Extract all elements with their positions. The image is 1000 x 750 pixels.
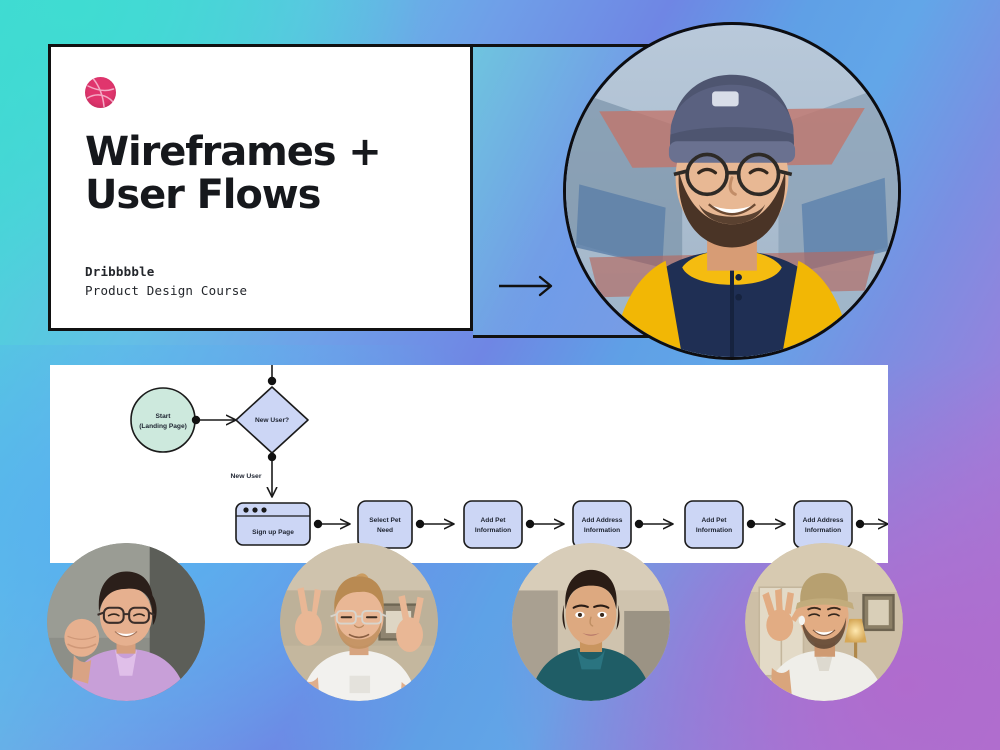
slide-content: Wireframes + User Flows Dribbbble Produc… [51,47,470,328]
slide-brand: Dribbbble [85,264,247,279]
shared-slide[interactable]: Wireframes + User Flows Dribbbble Produc… [48,44,473,331]
participant-1-avatar [47,543,205,701]
flow-node-label: Information [584,527,620,534]
flow-node-label: (Landing Page) [139,423,187,430]
flow-node-label: New User? [255,417,289,424]
dribbble-logo-icon [85,77,116,108]
flow-node-label: Add Pet [481,517,507,524]
participant-video-tile-4[interactable] [745,543,903,701]
user-flow-board[interactable]: Start (Landing Page) New User? New User … [50,365,888,563]
flow-node-label: Add Address [803,517,844,524]
slide-footer: Dribbbble Product Design Course [85,264,247,298]
participant-2-avatar [280,543,438,701]
slide-title-line-2: User Flows [85,174,436,217]
flow-node-label: Need [377,527,393,534]
flow-node-label: Select Pet [369,517,401,524]
slide-title: Wireframes + User Flows [85,131,436,217]
flow-edge-label: New User [231,473,262,480]
slide-subtitle: Product Design Course [85,283,247,298]
flow-node-label: Add Address [582,517,623,524]
participant-4-avatar [745,543,903,701]
slide-title-line-1: Wireframes + [85,131,436,174]
user-flow-diagram: Start (Landing Page) New User? New User … [50,365,888,563]
flow-node-label: Information [475,527,511,534]
flow-node-label: Sign up Page [252,529,294,536]
flow-node-label: Information [696,527,732,534]
flow-node-label: Information [805,527,841,534]
participant-video-tile-1[interactable] [47,543,205,701]
main-speaker-video-tile[interactable] [563,22,901,360]
participant-video-tile-3[interactable] [512,543,670,701]
flow-node-label: Add Pet [702,517,728,524]
main-speaker-avatar [566,25,898,357]
participant-video-tile-2[interactable] [280,543,438,701]
participant-3-avatar [512,543,670,701]
flow-node-label: Start [155,413,171,420]
arrow-right-icon [498,275,558,297]
